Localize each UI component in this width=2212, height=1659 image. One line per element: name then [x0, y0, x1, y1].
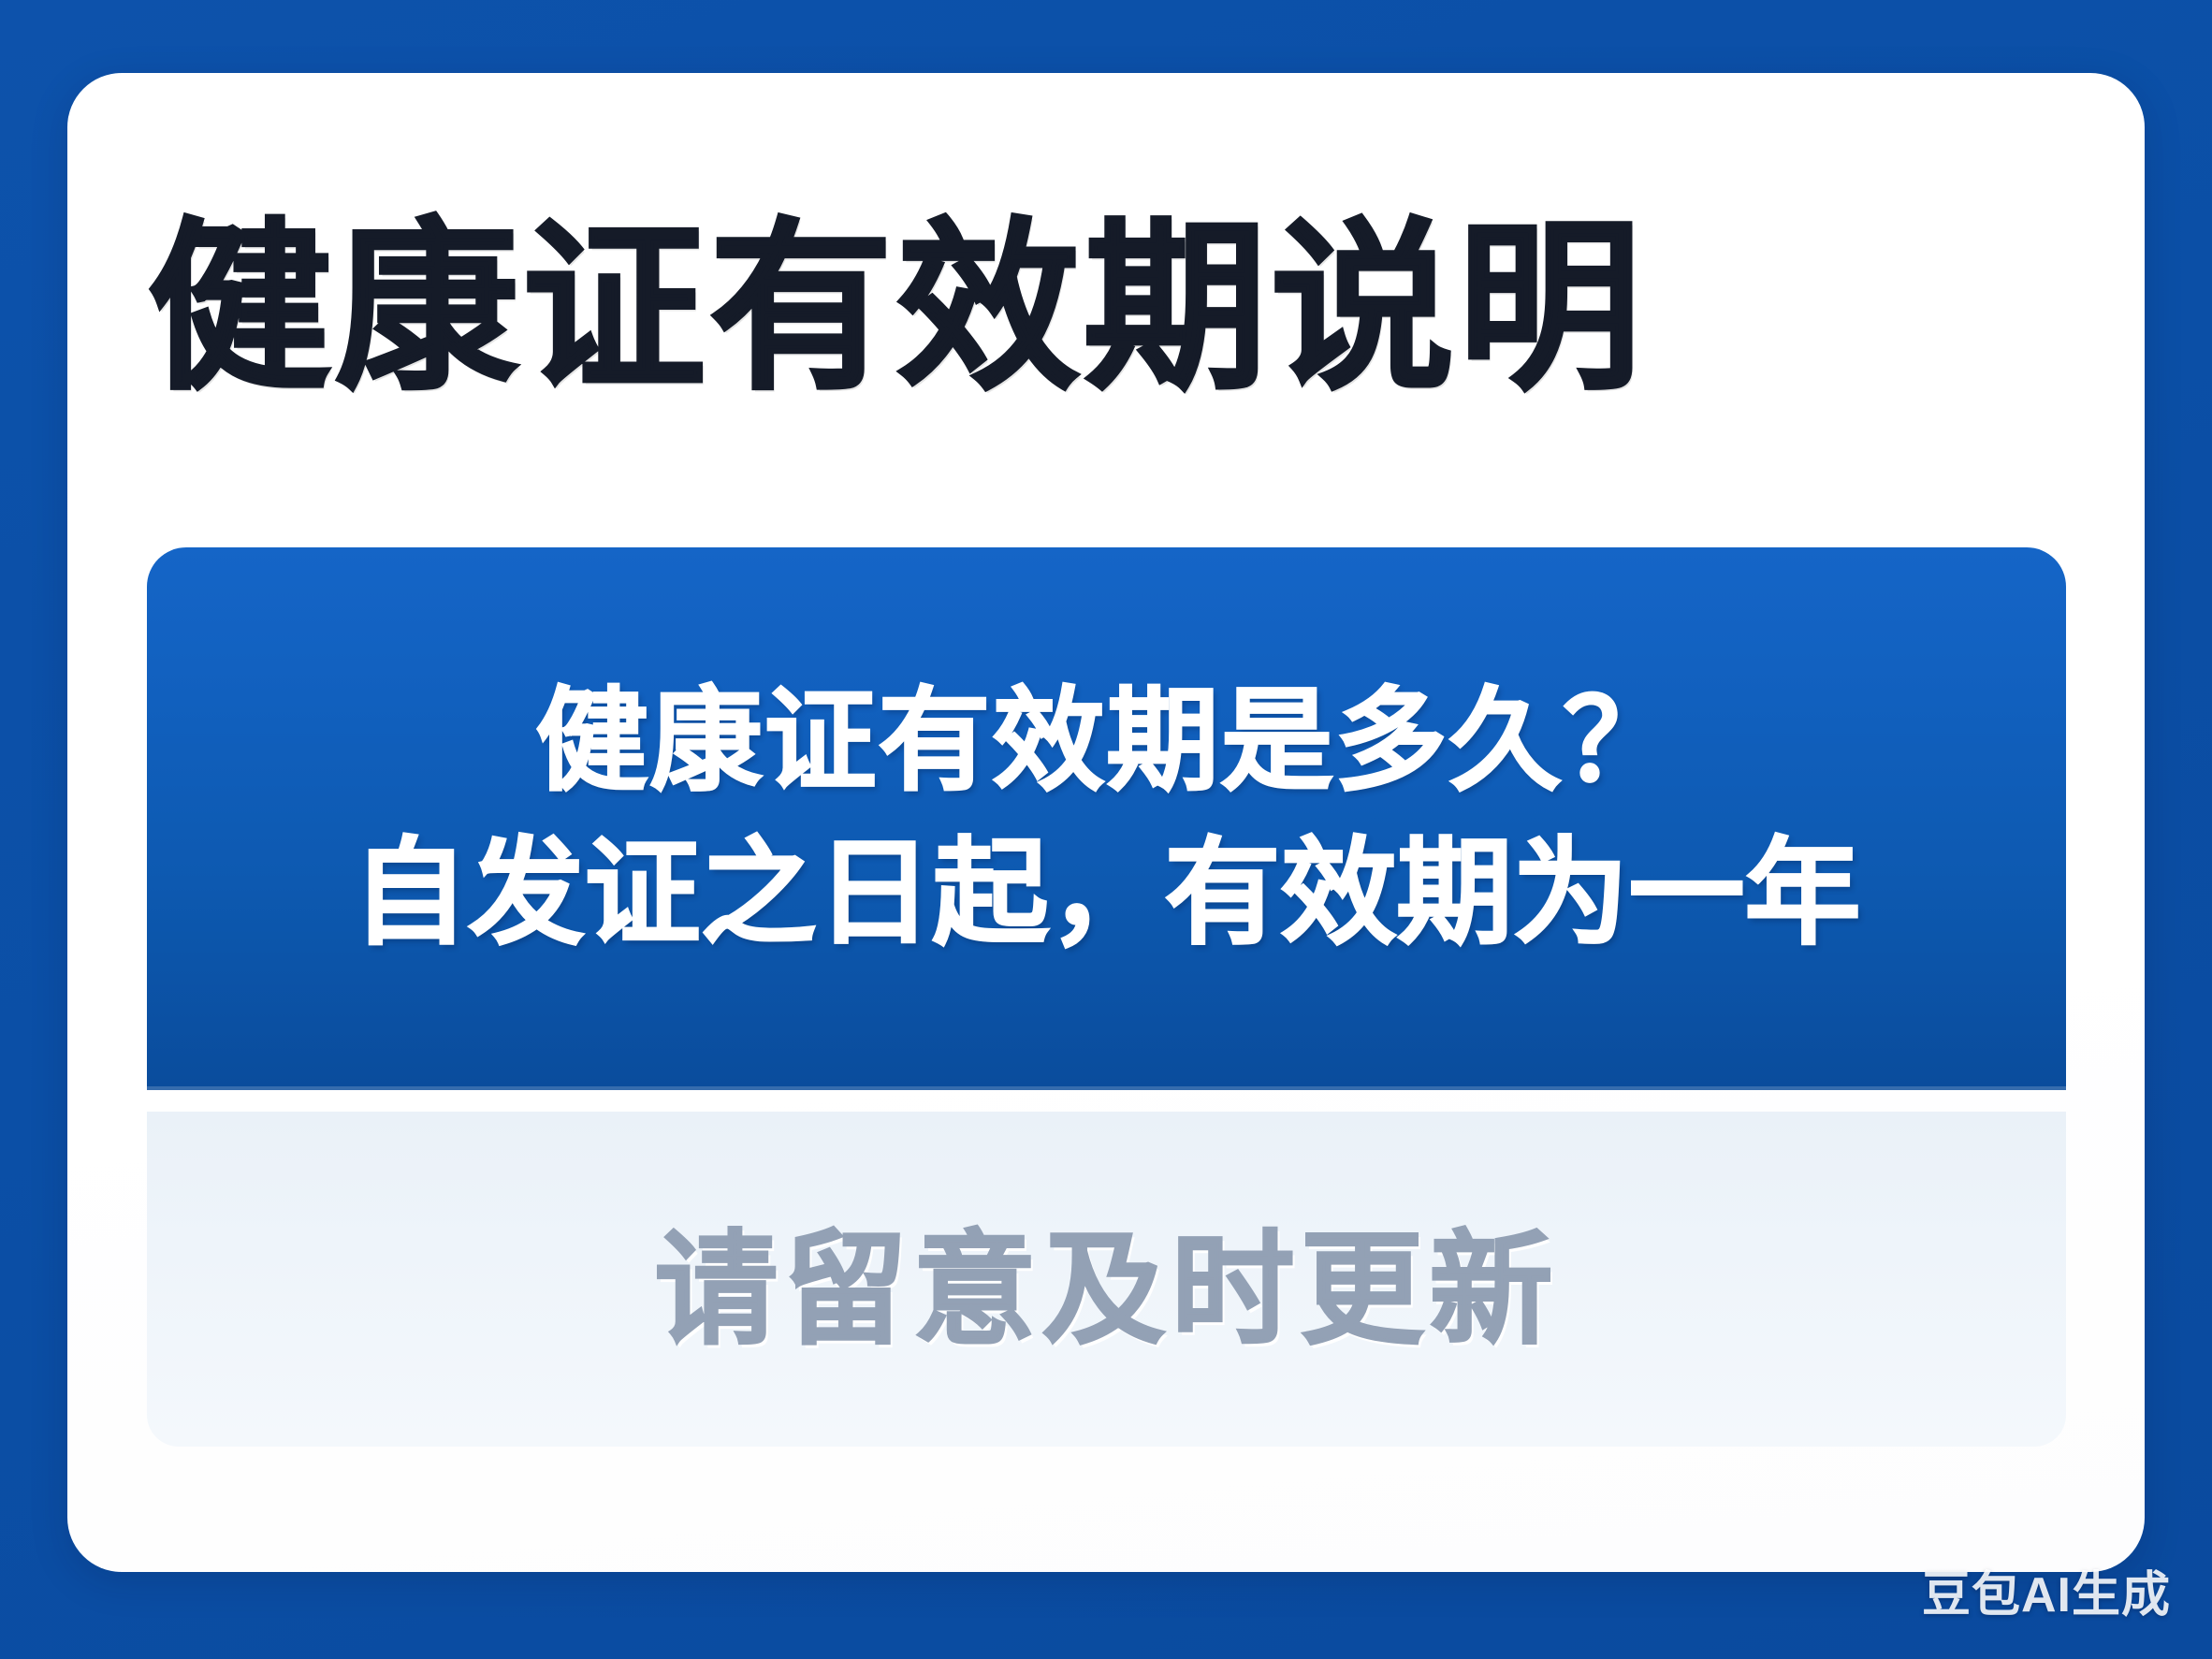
highlight-answer-line: 自发证之日起，有效期为一年 [352, 829, 1860, 959]
note-text: 请留意及时更新 [655, 1190, 1559, 1369]
poster-background: 健康证有效期说明 健康证有效期是多久？ 自发证之日起，有效期为一年 请留意及时更… [0, 0, 2212, 1659]
content-card: 健康证有效期说明 健康证有效期是多久？ 自发证之日起，有效期为一年 请留意及时更… [67, 73, 2145, 1572]
note-panel: 请留意及时更新 [147, 1112, 2066, 1447]
page-title: 健康证有效期说明 [148, 213, 2066, 404]
highlight-panel: 健康证有效期是多久？ 自发证之日起，有效期为一年 [147, 547, 2066, 1090]
watermark-label: 豆包AI生成 [1922, 1555, 2171, 1625]
highlight-question-line: 健康证有效期是多久？ [536, 678, 1678, 804]
